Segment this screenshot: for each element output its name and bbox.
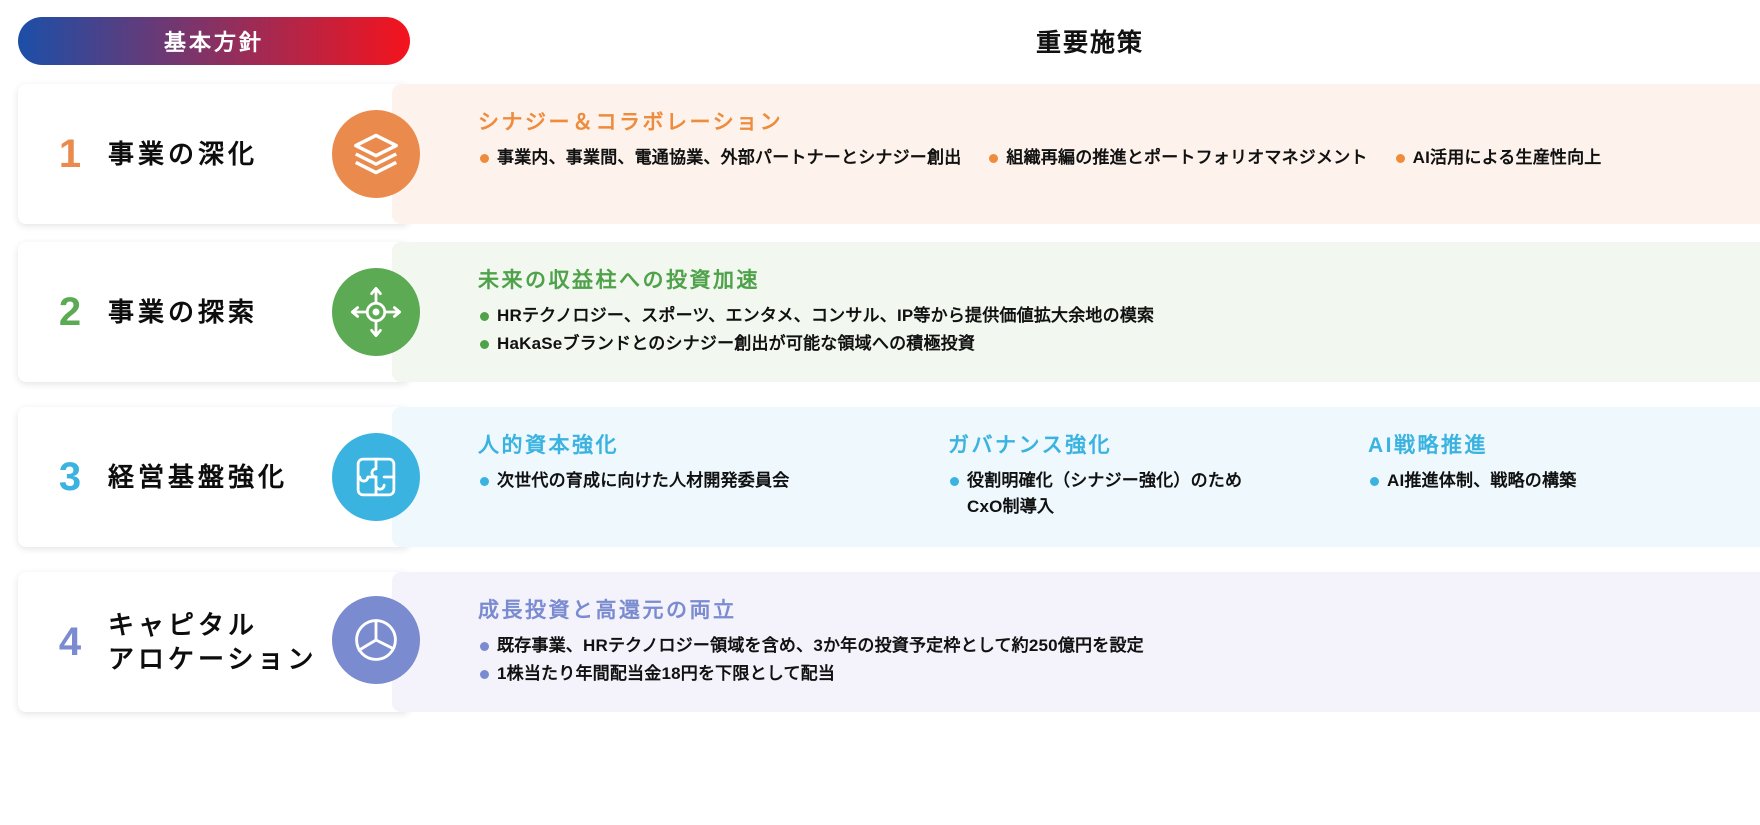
layers-stack-icon [332, 110, 420, 198]
measure-group-3-2: ガバナンス強化 役割明確化（シナジー強化）のため CxO制導入 [948, 429, 1368, 522]
list-item: HaKaSeブランドとのシナジー創出が可能な領域への積極投資 [478, 331, 1734, 357]
list-item: 組織再編の推進とポートフォリオマネジメント [987, 145, 1367, 171]
measure-group-3-3: AI戦略推進 AI推進体制、戦略の構築 [1368, 429, 1728, 496]
list-item: 次世代の育成に向けた人材開発委員会 [478, 468, 948, 494]
list-item: 事業内、事業間、電通協業、外部パートナーとシナジー創出 [478, 145, 961, 171]
strategy-overview-page: 基本方針 重要施策 1 事業の深化 シナジー＆コラボレーション 事業内、事業間、… [0, 0, 1760, 825]
list-item: 役割明確化（シナジー強化）のため CxO制導入 [948, 468, 1368, 520]
measure-bullets-3-2: 役割明確化（シナジー強化）のため CxO制導入 [948, 468, 1368, 520]
puzzle-piece-icon [332, 433, 420, 521]
measure-bullets-3-1: 次世代の育成に向けた人材開発委員会 [478, 468, 948, 494]
list-item: 既存事業、HRテクノロジー領域を含め、3か年の投資予定枠として約250億円を設定 [478, 633, 1734, 659]
policy-number-2: 2 [44, 292, 96, 332]
measures-panel-1: シナジー＆コラボレーション 事業内、事業間、電通協業、外部パートナーとシナジー創… [392, 84, 1760, 224]
page-header: 基本方針 重要施策 [0, 0, 1760, 78]
list-item: 1株当たり年間配当金18円を下限として配当 [478, 661, 1734, 687]
strategy-row-4: 4 キャピタル アロケーション 成長投資と高還元の両立 既存事業、HRテクノロジ… [0, 558, 1760, 718]
policy-title-2: 事業の探索 [108, 295, 258, 329]
measure-group-title-3-1: 人的資本強化 [478, 429, 948, 459]
measure-bullets-1-1: 事業内、事業間、電通協業、外部パートナーとシナジー創出 組織再編の推進とポートフ… [478, 145, 1734, 173]
measure-bullets-3-3: AI推進体制、戦略の構築 [1368, 468, 1728, 494]
basic-policy-label: 基本方針 [164, 25, 264, 57]
measure-group-title-3-2: ガバナンス強化 [948, 429, 1368, 459]
strategy-row-2: 2 事業の探索 未来の収益柱への投資加速 HRテクノロジー、スポーツ、エンタメ、… [0, 228, 1760, 393]
policy-number-1: 1 [44, 134, 96, 174]
measure-bullets-2-1: HRテクノロジー、スポーツ、エンタメ、コンサル、IP等から提供価値拡大余地の模索… [478, 303, 1734, 357]
strategy-row-1: 1 事業の深化 シナジー＆コラボレーション 事業内、事業間、電通協業、外部パート… [0, 78, 1760, 228]
policy-number-4: 4 [44, 622, 96, 662]
measure-group-title-3-3: AI戦略推進 [1368, 429, 1728, 459]
measure-group-3-1: 人的資本強化 次世代の育成に向けた人材開発委員会 [478, 429, 948, 496]
strategy-row-3: 3 経営基盤強化 人的資本強化 次世代の育成に向け [0, 393, 1760, 558]
policy-title-4: キャピタル アロケーション [108, 608, 317, 677]
expand-target-icon [332, 268, 420, 356]
measure-bullets-4-1: 既存事業、HRテクノロジー領域を含め、3か年の投資予定枠として約250億円を設定… [478, 633, 1734, 687]
measures-panel-4: 成長投資と高還元の両立 既存事業、HRテクノロジー領域を含め、3か年の投資予定枠… [392, 572, 1760, 712]
key-measures-heading: 重要施策 [440, 23, 1740, 59]
basic-policy-pill: 基本方針 [18, 17, 410, 65]
measure-group-title-4-1: 成長投資と高還元の両立 [478, 594, 1734, 624]
list-item: HRテクノロジー、スポーツ、エンタメ、コンサル、IP等から提供価値拡大余地の模索 [478, 303, 1734, 329]
pie-chart-icon [332, 596, 420, 684]
measures-panel-3: 人的資本強化 次世代の育成に向けた人材開発委員会 ガバナンス強化 役割明確化（シ… [392, 407, 1760, 547]
policy-title-1: 事業の深化 [108, 137, 258, 171]
measure-group-title-1-1: シナジー＆コラボレーション [478, 106, 1734, 136]
list-item: AI推進体制、戦略の構築 [1368, 468, 1728, 494]
list-item: AI活用による生産性向上 [1394, 145, 1602, 171]
measure-group-title-2-1: 未来の収益柱への投資加速 [478, 264, 1734, 294]
measures-panel-2: 未来の収益柱への投資加速 HRテクノロジー、スポーツ、エンタメ、コンサル、IP等… [392, 242, 1760, 382]
policy-number-3: 3 [44, 457, 96, 497]
policy-title-3: 経営基盤強化 [108, 460, 288, 494]
